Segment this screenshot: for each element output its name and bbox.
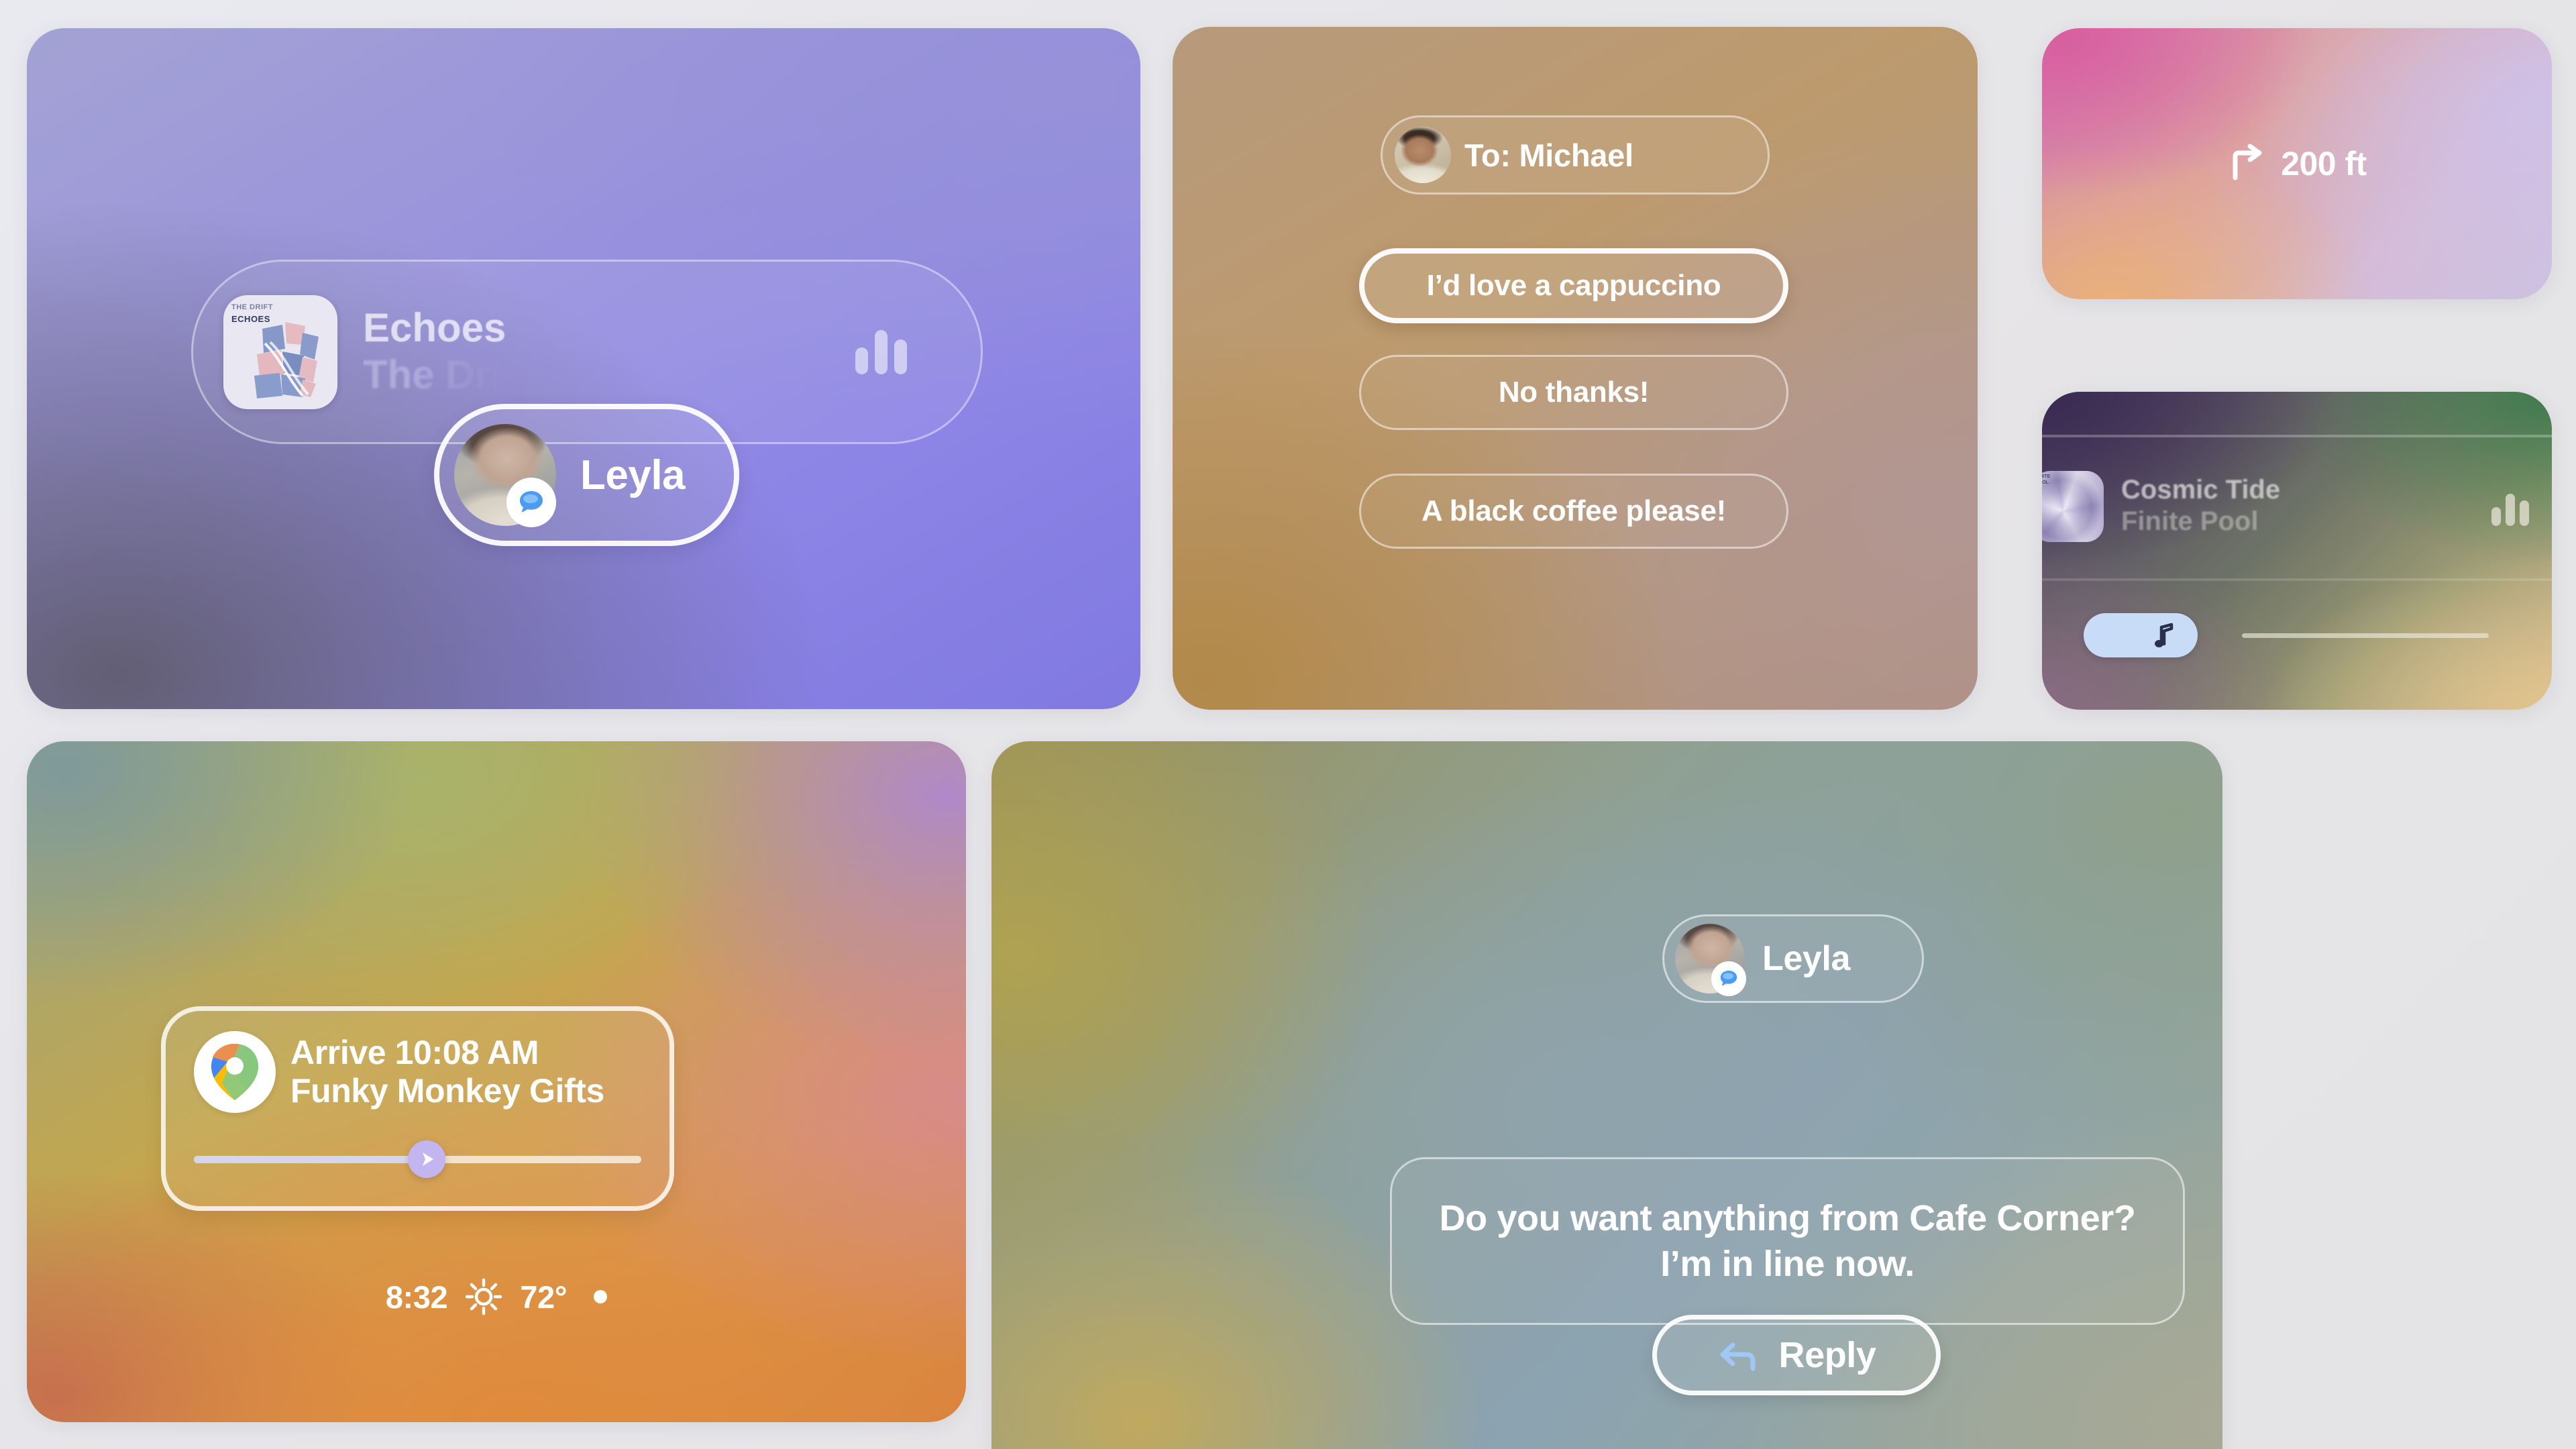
temperature: 72° <box>520 1279 567 1316</box>
message-bubble: Do you want anything from Cafe Corner? I… <box>1390 1157 2185 1325</box>
message-sender-name: Leyla <box>1762 938 1850 979</box>
cosmic-meta: Cosmic Tide Finite Pool <box>2121 475 2280 537</box>
now-playing-meta: Echoes The Drift <box>363 307 529 397</box>
progress-fill <box>194 1156 427 1163</box>
messages-badge-icon <box>506 478 556 527</box>
equalizer-icon <box>855 330 907 374</box>
reply-arrow-icon <box>1717 1336 1761 1374</box>
avatar-leyla <box>1675 924 1745 994</box>
sun-icon <box>465 1278 502 1316</box>
google-maps-pin-icon <box>194 1031 276 1113</box>
reply-button[interactable]: Reply <box>1652 1315 1941 1395</box>
divider-top <box>2042 435 2552 437</box>
track-title: Echoes <box>363 307 529 350</box>
album-art-artwork <box>223 295 337 409</box>
contact-pill-leyla[interactable]: Leyla <box>434 404 739 546</box>
arrival-time: Arrive 10:08 AM <box>290 1034 604 1071</box>
turn-right-icon <box>2227 143 2269 184</box>
volume-slider[interactable] <box>2084 613 2520 657</box>
track-artist: The Drift <box>363 352 529 397</box>
cosmic-track-title: Cosmic Tide <box>2121 475 2280 504</box>
volume-knob[interactable] <box>2084 613 2198 657</box>
smart-replies-card[interactable]: To: Michael I’d love a cappuccino No tha… <box>1173 27 1978 710</box>
messages-badge-icon <box>1711 961 1746 996</box>
music-note-icon <box>2152 622 2175 649</box>
message-sender-pill[interactable]: Leyla <box>1662 914 1924 1003</box>
route-progress-slider[interactable] <box>194 1142 641 1177</box>
reply-option-3[interactable]: A black coffee please! <box>1359 474 1788 549</box>
message-body: Do you want anything from Cafe Corner? I… <box>1392 1195 2183 1287</box>
volume-track <box>2242 633 2489 638</box>
avatar-leyla <box>454 424 556 526</box>
arrival-destination: Funky Monkey Gifts <box>290 1071 604 1110</box>
arrival-info-panel[interactable]: Arrive 10:08 AM Funky Monkey Gifts <box>161 1006 674 1211</box>
recipient-label: To: Michael <box>1464 137 1633 174</box>
reply-option-1[interactable]: I’d love a cappuccino <box>1359 248 1788 323</box>
now-playing-card[interactable]: THE DRIFT ECHOES <box>27 28 1140 709</box>
avatar-michael <box>1395 127 1451 183</box>
navigation-arrow-icon[interactable] <box>408 1140 445 1178</box>
navigation-distance: 200 ft <box>2281 144 2367 183</box>
status-dot-icon <box>594 1290 607 1303</box>
divider-mid <box>2042 578 2552 581</box>
contact-name: Leyla <box>580 451 685 499</box>
equalizer-icon <box>2491 494 2529 526</box>
album-art: THE DRIFT ECHOES <box>223 295 337 409</box>
album-art-tag: FINITEPOOL <box>2042 474 2050 486</box>
arrival-card[interactable]: Arrive 10:08 AM Funky Monkey Gifts 8:32 <box>27 741 966 1422</box>
album-art-cosmic: FINITEPOOL <box>2042 471 2104 542</box>
message-card[interactable]: Leyla Do you want anything from Cafe Cor… <box>991 741 2222 1449</box>
clock: 8:32 <box>386 1279 447 1316</box>
recipient-pill[interactable]: To: Michael <box>1381 115 1770 195</box>
reply-button-label: Reply <box>1778 1334 1876 1376</box>
status-row: 8:32 72° <box>27 1278 966 1316</box>
cosmic-tide-music-card[interactable]: FINITEPOOL Cosmic Tide Finite Pool <box>2042 392 2552 710</box>
widget-board: THE DRIFT ECHOES <box>0 0 2576 1449</box>
reply-option-2[interactable]: No thanks! <box>1359 355 1788 430</box>
cosmic-track-artist: Finite Pool <box>2121 506 2280 537</box>
navigation-card[interactable]: 200 ft <box>2042 28 2552 299</box>
